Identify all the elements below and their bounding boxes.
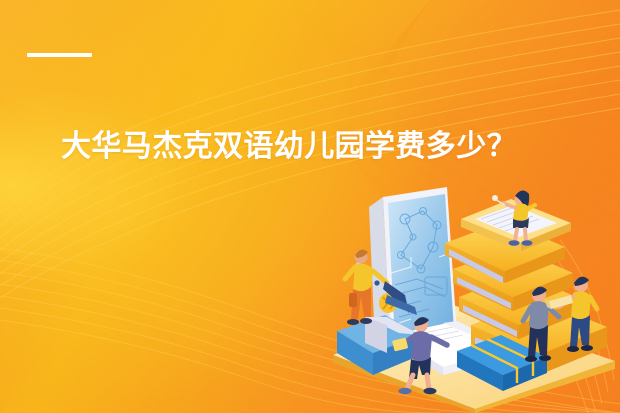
page-title: 大华马杰克双语幼儿园学费多少？ — [61, 128, 541, 166]
accent-rule — [27, 53, 92, 57]
promo-banner: 大华马杰克双语幼儿园学费多少？ — [0, 0, 620, 413]
isometric-education-illustration — [325, 185, 620, 413]
